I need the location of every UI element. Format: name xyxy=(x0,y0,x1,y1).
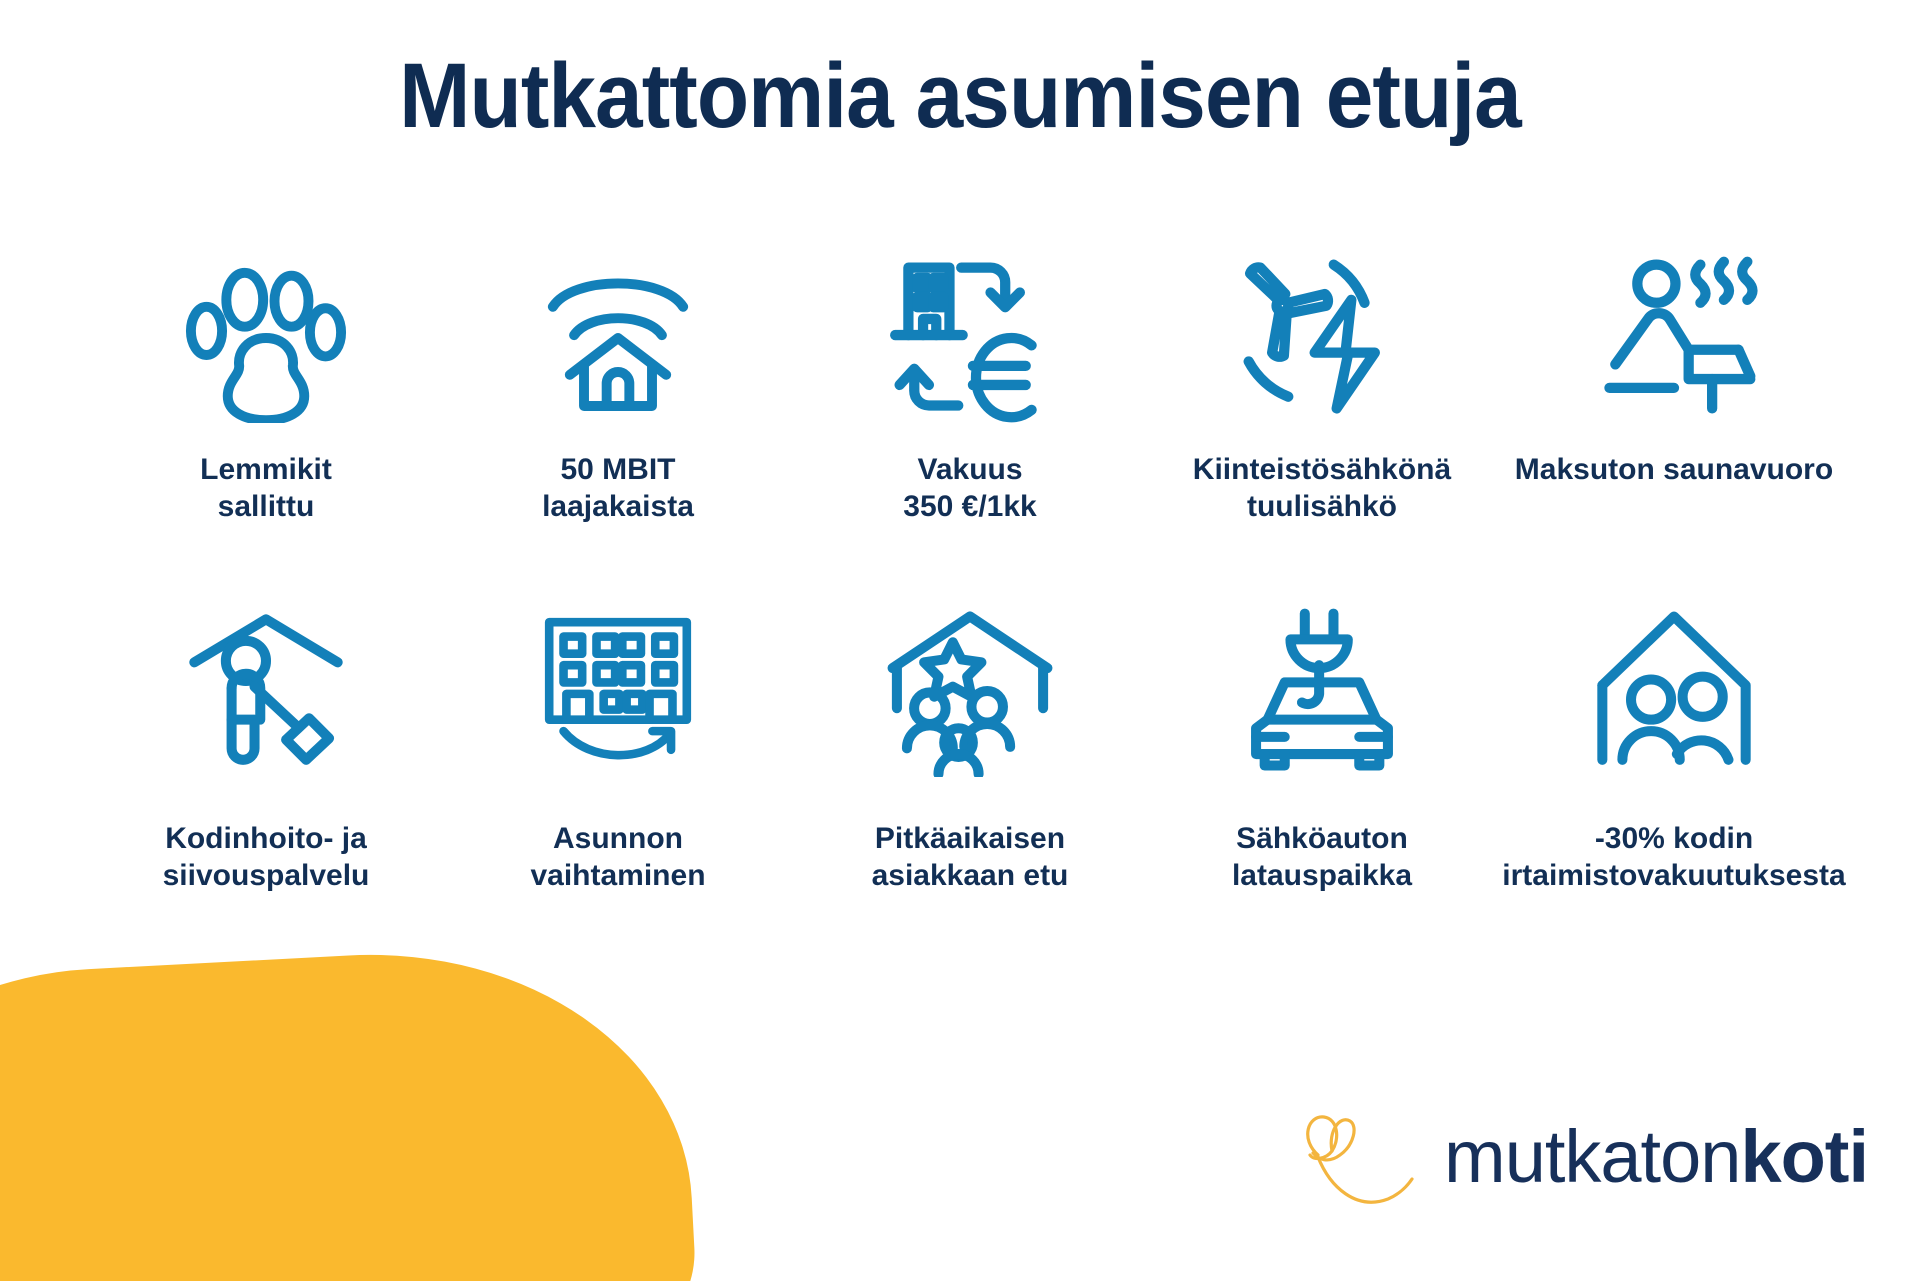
benefit-item-home-insurance: -30% kodin irtaimistovakuutuksesta xyxy=(1498,591,1850,894)
benefit-label: Kodinhoito- ja siivouspalvelu xyxy=(163,821,370,894)
benefit-label: 50 MBIT laajakaista xyxy=(542,452,694,525)
wind-power-icon xyxy=(1234,240,1410,436)
benefit-label: Pitkäaikaisen asiakkaan etu xyxy=(872,821,1069,894)
heart-swirl-icon xyxy=(1288,1087,1438,1237)
page-title: Mutkattomia asumisen etuja xyxy=(67,48,1853,145)
benefit-item-cleaning: Kodinhoito- ja siivouspalvelu xyxy=(90,591,442,894)
apartment-swap-icon xyxy=(532,591,704,791)
benefit-item-apartment-swap: Asunnon vaihtaminen xyxy=(442,591,794,894)
paw-icon xyxy=(181,240,351,436)
benefit-label: Asunnon vaihtaminen xyxy=(530,821,705,894)
benefit-item-broadband: 50 MBIT laajakaista xyxy=(442,240,794,525)
brand-logo: mutkatonkoti xyxy=(1288,1087,1868,1237)
benefit-item-deposit: Vakuus 350 €/1kk xyxy=(794,240,1146,525)
benefit-label: -30% kodin irtaimistovakuutuksesta xyxy=(1502,821,1845,894)
benefit-item-sauna: Maksuton saunavuoro xyxy=(1498,240,1850,525)
benefits-row-1: Lemmikit sallittu 50 MBIT laajakaista xyxy=(90,240,1850,525)
benefit-item-pets: Lemmikit sallittu xyxy=(90,240,442,525)
benefit-label: Vakuus 350 €/1kk xyxy=(903,452,1036,525)
yellow-blob-decoration xyxy=(0,938,701,1281)
logo-text-light: mutkaton xyxy=(1444,1115,1740,1198)
logo-wordmark: mutkatonkoti xyxy=(1444,1120,1868,1204)
benefit-item-windpower: Kiinteistösähkönä tuulisähkö xyxy=(1146,240,1498,525)
benefit-label: Sähköauton latauspaikka xyxy=(1232,821,1412,894)
benefit-label: Kiinteistösähkönä tuulisähkö xyxy=(1193,452,1451,525)
loyal-customer-icon xyxy=(884,591,1056,791)
benefit-label: Maksuton saunavuoro xyxy=(1515,452,1833,489)
cleaning-service-icon xyxy=(180,591,352,791)
benefit-item-loyalty: Pitkäaikaisen asiakkaan etu xyxy=(794,591,1146,894)
infographic-page: Mutkattomia asumisen etuja Lemmikit sall… xyxy=(0,0,1920,1281)
benefit-item-ev-charging: Sähköauton latauspaikka xyxy=(1146,591,1498,894)
sauna-icon xyxy=(1586,240,1762,436)
wifi-house-icon xyxy=(533,240,703,436)
home-insurance-icon xyxy=(1588,591,1760,791)
deposit-euro-icon xyxy=(882,240,1058,436)
benefits-grid: Lemmikit sallittu 50 MBIT laajakaista xyxy=(90,240,1850,894)
ev-charging-icon xyxy=(1236,591,1408,791)
benefit-label: Lemmikit sallittu xyxy=(200,452,332,525)
benefits-row-2: Kodinhoito- ja siivouspalvelu xyxy=(90,591,1850,894)
logo-text-bold: koti xyxy=(1740,1115,1868,1198)
